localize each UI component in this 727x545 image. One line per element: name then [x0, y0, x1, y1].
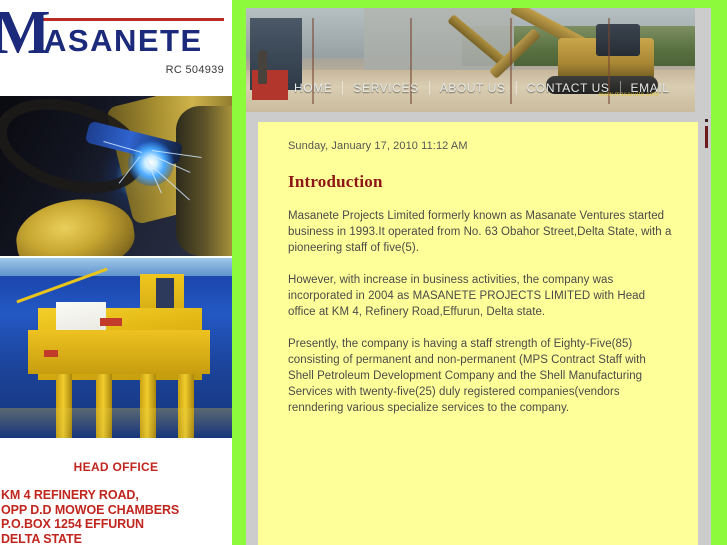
- content-card: Sunday, January 17, 2010 11:12 AM Introd…: [258, 122, 698, 545]
- content-timestamp: Sunday, January 17, 2010 11:12 AM: [288, 140, 674, 152]
- hero-banner-image: www.masanete.com HOME SERVICES ABOUT US …: [246, 8, 695, 112]
- top-green-gutter: [232, 0, 727, 8]
- content-body: Sunday, January 17, 2010 11:12 AM Introd…: [258, 122, 698, 416]
- offshore-rig-photo: [0, 258, 232, 438]
- content-paragraph: Masanete Projects Limited formerly known…: [288, 208, 674, 256]
- nav-item-services[interactable]: SERVICES: [343, 77, 428, 99]
- main-navigation: HOME SERVICES ABOUT US CONTACT US EMAIL: [246, 72, 695, 104]
- logo-rule-decoration: [42, 18, 224, 21]
- rig-red-equipment: [44, 350, 58, 357]
- logo-wordmark: ASANETE: [44, 24, 203, 58]
- head-office-section: HEAD OFFICE KM 4 REFINERY ROAD, OPP D.D …: [0, 440, 232, 545]
- welding-flange-wheel: [12, 192, 139, 256]
- nav-item-home[interactable]: HOME: [284, 77, 342, 99]
- right-edge-marker-dot: [705, 119, 708, 122]
- nav-item-email[interactable]: EMAIL: [621, 77, 680, 99]
- welding-photo: [0, 96, 232, 256]
- head-office-title: HEAD OFFICE: [0, 460, 232, 474]
- nav-item-contact-us[interactable]: CONTACT US: [517, 77, 620, 99]
- page-root: M ASANETE RC 504939: [0, 0, 727, 545]
- content-paragraph: Presently, the company is having a staff…: [288, 336, 674, 416]
- rig-sky: [0, 258, 232, 276]
- address-line: DELTA STATE: [1, 532, 232, 545]
- nav-item-about-us[interactable]: ABOUT US: [430, 77, 516, 99]
- left-sidebar: M ASANETE RC 504939: [0, 0, 232, 545]
- logo-initial: M: [0, 2, 49, 64]
- address-line: P.O.BOX 1254 EFFURUN: [1, 517, 232, 532]
- right-edge-marker: [705, 126, 708, 148]
- left-green-gutter: [232, 0, 246, 545]
- logo-registration-number: RC 504939: [0, 64, 224, 76]
- address-line: OPP D.D MOWOE CHAMBERS: [1, 503, 232, 518]
- head-office-address: KM 4 REFINERY ROAD, OPP D.D MOWOE CHAMBE…: [0, 488, 232, 545]
- content-paragraph: However, with increase in business activ…: [288, 272, 674, 320]
- main-panel: www.masanete.com HOME SERVICES ABOUT US …: [246, 0, 711, 545]
- content-heading: Introduction: [288, 172, 674, 192]
- right-green-gutter: [711, 0, 727, 545]
- address-line: KM 4 REFINERY ROAD,: [1, 488, 232, 503]
- site-logo[interactable]: M ASANETE RC 504939: [0, 0, 232, 95]
- rig-water-reflection: [0, 408, 232, 438]
- rig-derrick-core: [156, 278, 174, 312]
- rig-red-equipment: [100, 318, 122, 326]
- welding-pipe-right: [176, 106, 232, 256]
- banner-excavator-cab: [596, 24, 640, 56]
